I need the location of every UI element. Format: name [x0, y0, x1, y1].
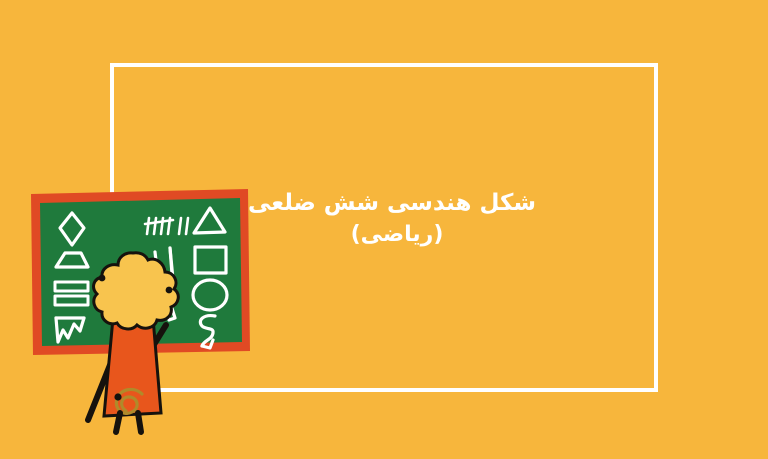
page-subtitle: (ریاضی) — [258, 220, 536, 250]
slide-canvas: شکل هندسی شش ضلعی (ریاضی) — [0, 0, 768, 459]
page-title: شکل هندسی شش ضلعی — [258, 188, 536, 218]
character-dress — [104, 318, 161, 416]
illustration-teacher-chalkboard — [14, 170, 264, 445]
title-block: شکل هندسی شش ضلعی (ریاضی) — [258, 188, 536, 250]
